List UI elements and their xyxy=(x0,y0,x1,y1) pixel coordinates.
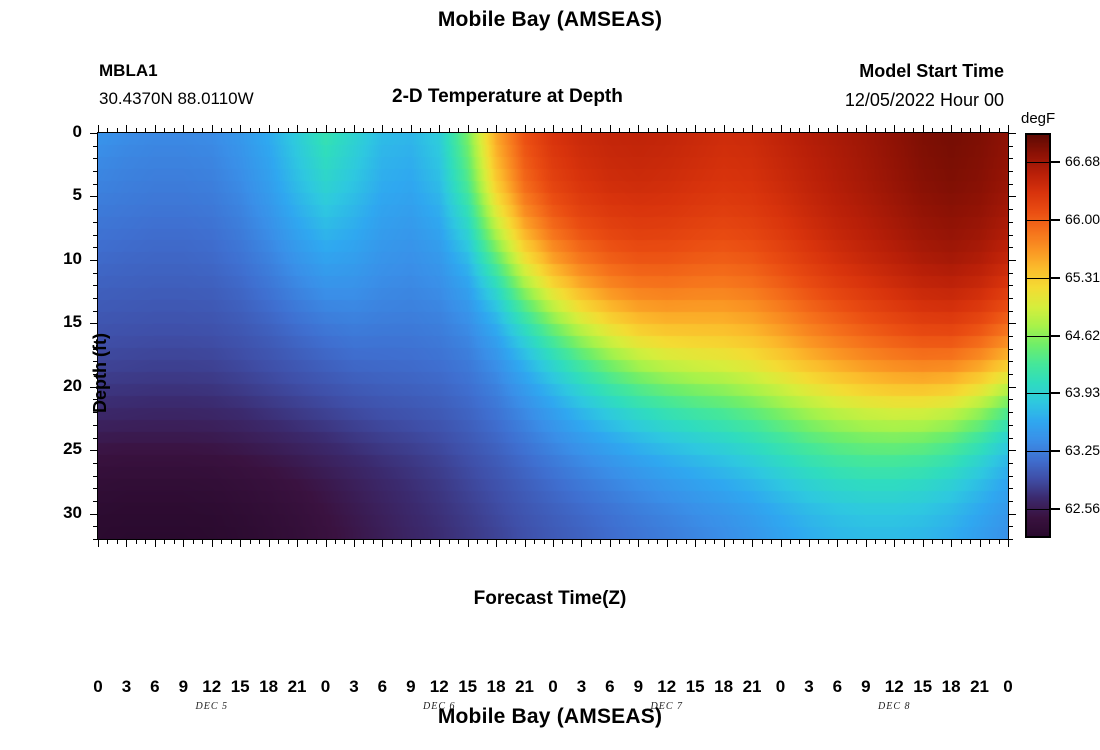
x-axis-top-tick xyxy=(752,125,753,133)
x-axis-top-tick xyxy=(439,125,440,133)
y-axis-right-minor-tick xyxy=(1008,463,1013,464)
x-axis-tick xyxy=(781,539,782,547)
x-axis-minor-tick xyxy=(307,539,308,544)
x-axis-minor-tick xyxy=(477,539,478,544)
x-axis-tick xyxy=(894,539,895,547)
y-axis-minor-tick xyxy=(93,425,98,426)
x-axis-top-minor-tick xyxy=(193,128,194,133)
x-axis-minor-tick xyxy=(714,539,715,544)
y-axis-minor-tick xyxy=(93,209,98,210)
x-axis-top-minor-tick xyxy=(259,128,260,133)
x-axis-top-tick xyxy=(724,125,725,133)
x-axis-tick xyxy=(610,539,611,547)
x-axis-tick xyxy=(638,539,639,547)
x-axis-minor-tick xyxy=(392,539,393,544)
x-axis-top-minor-tick xyxy=(107,128,108,133)
x-axis-top-minor-tick xyxy=(278,128,279,133)
y-axis-tick xyxy=(90,514,98,515)
x-axis-top-minor-tick xyxy=(221,128,222,133)
x-axis-top-tick xyxy=(126,125,127,133)
y-axis-right-minor-tick xyxy=(1008,285,1013,286)
y-axis-minor-tick xyxy=(93,273,98,274)
y-axis-tick-label: 30 xyxy=(42,503,82,523)
x-axis-top-minor-tick xyxy=(771,128,772,133)
y-axis-right-minor-tick xyxy=(1008,361,1013,362)
x-axis-top-minor-tick xyxy=(477,128,478,133)
colorbar-tick xyxy=(1051,277,1060,279)
x-axis-top-minor-tick xyxy=(790,128,791,133)
y-axis-minor-tick xyxy=(93,476,98,477)
x-axis-minor-tick xyxy=(743,539,744,544)
colorbar-inner-tick xyxy=(1025,393,1051,394)
x-axis-top-minor-tick xyxy=(363,128,364,133)
x-axis-top-minor-tick xyxy=(562,128,563,133)
x-axis-top-minor-tick xyxy=(572,128,573,133)
x-axis-top-minor-tick xyxy=(942,128,943,133)
station-coordinates: 30.4370N 88.0110W xyxy=(99,85,254,113)
x-axis-tick xyxy=(581,539,582,547)
x-axis-top-tick xyxy=(866,125,867,133)
x-axis-minor-tick xyxy=(999,539,1000,544)
x-axis-top-minor-tick xyxy=(288,128,289,133)
model-start-time-label: Model Start Time xyxy=(845,57,1004,86)
x-axis-top-tick xyxy=(1008,125,1009,133)
y-axis-right-minor-tick xyxy=(1008,158,1013,159)
y-axis-right-minor-tick xyxy=(1008,374,1013,375)
colorbar-inner-tick xyxy=(1025,278,1051,279)
y-axis-right-tick xyxy=(1008,196,1016,197)
y-axis-tick xyxy=(90,196,98,197)
x-axis-tick xyxy=(183,539,184,547)
x-axis-tick xyxy=(382,539,383,547)
x-axis-top-tick xyxy=(496,125,497,133)
x-axis-top-tick xyxy=(155,125,156,133)
y-axis-tick xyxy=(90,260,98,261)
x-axis-tick xyxy=(695,539,696,547)
x-axis-top-tick xyxy=(553,125,554,133)
x-axis-top-minor-tick xyxy=(657,128,658,133)
y-axis-tick-label: 5 xyxy=(42,185,82,205)
colorbar-tick xyxy=(1051,161,1060,163)
heatmap-plot-area: Depth (ft) 03691215182103691215182103691… xyxy=(97,132,1009,540)
x-axis-top-minor-tick xyxy=(885,128,886,133)
x-axis-minor-tick xyxy=(544,539,545,544)
x-axis-minor-tick xyxy=(193,539,194,544)
x-axis-top-minor-tick xyxy=(430,128,431,133)
x-axis-tick xyxy=(724,539,725,547)
x-axis-top-minor-tick xyxy=(856,128,857,133)
x-axis-top-minor-tick xyxy=(344,128,345,133)
x-axis-tick xyxy=(155,539,156,547)
y-axis-right-tick xyxy=(1008,323,1016,324)
x-axis-minor-tick xyxy=(676,539,677,544)
y-axis-right-minor-tick xyxy=(1008,488,1013,489)
y-axis-minor-tick xyxy=(93,311,98,312)
x-axis-top-tick xyxy=(354,125,355,133)
x-axis-minor-tick xyxy=(506,539,507,544)
x-axis-tick xyxy=(269,539,270,547)
x-axis-minor-tick xyxy=(164,539,165,544)
x-axis-top-minor-tick xyxy=(989,128,990,133)
y-axis-right-minor-tick xyxy=(1008,171,1013,172)
colorbar-inner-tick xyxy=(1025,451,1051,452)
y-axis-minor-tick xyxy=(93,298,98,299)
y-axis-minor-tick xyxy=(93,349,98,350)
x-axis-top-minor-tick xyxy=(961,128,962,133)
y-axis-right-minor-tick xyxy=(1008,476,1013,477)
y-axis-minor-tick xyxy=(93,235,98,236)
x-axis-top-minor-tick xyxy=(174,128,175,133)
x-axis-minor-tick xyxy=(534,539,535,544)
y-axis-tick-label: 10 xyxy=(42,249,82,269)
x-axis-tick xyxy=(866,539,867,547)
y-axis-minor-tick xyxy=(93,374,98,375)
x-axis-minor-tick xyxy=(913,539,914,544)
y-axis-right-minor-tick xyxy=(1008,526,1013,527)
x-axis-top-tick xyxy=(980,125,981,133)
y-axis-minor-tick xyxy=(93,222,98,223)
y-axis-right-tick xyxy=(1008,514,1016,515)
x-axis-top-minor-tick xyxy=(117,128,118,133)
x-axis-minor-tick xyxy=(401,539,402,544)
y-axis-tick xyxy=(90,133,98,134)
x-axis-tick xyxy=(98,539,99,547)
y-axis-right-minor-tick xyxy=(1008,235,1013,236)
x-axis-minor-tick xyxy=(250,539,251,544)
x-axis-minor-tick xyxy=(657,539,658,544)
x-axis-top-minor-tick xyxy=(799,128,800,133)
x-axis-top-minor-tick xyxy=(847,128,848,133)
x-axis-top-tick xyxy=(667,125,668,133)
x-axis-tick xyxy=(667,539,668,547)
y-axis-right-minor-tick xyxy=(1008,247,1013,248)
x-axis-top-minor-tick xyxy=(506,128,507,133)
y-axis-minor-tick xyxy=(93,488,98,489)
colorbar-tick-label: 65.312 xyxy=(1065,269,1100,285)
x-axis-minor-tick xyxy=(363,539,364,544)
y-axis-minor-tick xyxy=(93,438,98,439)
x-axis-minor-tick xyxy=(316,539,317,544)
x-axis-top-minor-tick xyxy=(913,128,914,133)
x-axis-minor-tick xyxy=(733,539,734,544)
y-axis-right-minor-tick xyxy=(1008,412,1013,413)
x-axis-top-minor-tick xyxy=(145,128,146,133)
y-axis-minor-tick xyxy=(93,247,98,248)
x-axis-top-minor-tick xyxy=(136,128,137,133)
x-axis-minor-tick xyxy=(856,539,857,544)
x-axis-top-minor-tick xyxy=(401,128,402,133)
x-axis-top-minor-tick xyxy=(629,128,630,133)
x-axis-top-minor-tick xyxy=(544,128,545,133)
y-axis-minor-tick xyxy=(93,526,98,527)
x-axis-tick xyxy=(923,539,924,547)
x-axis-top-tick xyxy=(98,125,99,133)
x-axis-top-tick xyxy=(894,125,895,133)
x-axis-top-minor-tick xyxy=(591,128,592,133)
y-axis-right-minor-tick xyxy=(1008,539,1013,540)
x-axis-top-minor-tick xyxy=(999,128,1000,133)
x-axis-tick xyxy=(326,539,327,547)
y-axis-right-minor-tick xyxy=(1008,425,1013,426)
colorbar-tick-label: 66.688 xyxy=(1065,153,1100,169)
x-axis-top-tick xyxy=(610,125,611,133)
y-axis-minor-tick xyxy=(93,399,98,400)
x-axis-top-tick xyxy=(809,125,810,133)
x-axis-minor-tick xyxy=(259,539,260,544)
y-axis-right-minor-tick xyxy=(1008,438,1013,439)
page-title-top: Mobile Bay (AMSEAS) xyxy=(0,8,1100,32)
colorbar-tick xyxy=(1051,450,1060,452)
y-axis-right-minor-tick xyxy=(1008,146,1013,147)
x-axis-tick xyxy=(951,539,952,547)
colorbar-tick xyxy=(1051,392,1060,394)
colorbar-tick xyxy=(1051,335,1060,337)
x-axis-top-tick xyxy=(269,125,270,133)
y-axis-right-minor-tick xyxy=(1008,298,1013,299)
colorbar-unit-label: degF xyxy=(1021,110,1055,127)
x-axis-tick xyxy=(837,539,838,547)
x-axis-top-minor-tick xyxy=(762,128,763,133)
x-axis-top-minor-tick xyxy=(705,128,706,133)
x-axis-minor-tick xyxy=(705,539,706,544)
y-axis-right-tick xyxy=(1008,133,1016,134)
x-axis-minor-tick xyxy=(288,539,289,544)
y-axis-minor-tick xyxy=(93,463,98,464)
x-axis-minor-tick xyxy=(487,539,488,544)
x-axis-minor-tick xyxy=(335,539,336,544)
y-axis-minor-tick xyxy=(93,285,98,286)
x-axis-minor-tick xyxy=(344,539,345,544)
y-axis-minor-tick xyxy=(93,171,98,172)
y-axis-minor-tick xyxy=(93,412,98,413)
x-axis-top-minor-tick xyxy=(828,128,829,133)
x-axis-top-minor-tick xyxy=(458,128,459,133)
x-axis-top-minor-tick xyxy=(392,128,393,133)
colorbar-inner-tick xyxy=(1025,162,1051,163)
x-axis-tick xyxy=(411,539,412,547)
x-axis-top-minor-tick xyxy=(714,128,715,133)
y-axis-right-minor-tick xyxy=(1008,336,1013,337)
x-axis-minor-tick xyxy=(449,539,450,544)
colorbar-tick-label: 63.938 xyxy=(1065,384,1100,400)
x-axis-minor-tick xyxy=(790,539,791,544)
x-axis-top-minor-tick xyxy=(534,128,535,133)
y-axis-right-tick xyxy=(1008,450,1016,451)
x-axis-tick xyxy=(980,539,981,547)
x-axis-minor-tick xyxy=(932,539,933,544)
x-axis-minor-tick xyxy=(828,539,829,544)
y-axis-right-minor-tick xyxy=(1008,399,1013,400)
x-axis-top-minor-tick xyxy=(686,128,687,133)
y-axis-minor-tick xyxy=(93,184,98,185)
y-axis-right-minor-tick xyxy=(1008,222,1013,223)
y-axis-minor-tick xyxy=(93,361,98,362)
colorbar-tick-label: 62.562 xyxy=(1065,500,1100,516)
x-axis-minor-tick xyxy=(989,539,990,544)
x-axis-tick xyxy=(468,539,469,547)
x-axis-top-minor-tick xyxy=(970,128,971,133)
temperature-heatmap-canvas xyxy=(98,133,1008,539)
x-axis-minor-tick xyxy=(629,539,630,544)
x-axis-top-minor-tick xyxy=(250,128,251,133)
colorbar-tick-label: 66.000 xyxy=(1065,211,1100,227)
station-id: MBLA1 xyxy=(99,57,254,85)
y-axis-tick-label: 25 xyxy=(42,439,82,459)
y-axis-right-minor-tick xyxy=(1008,311,1013,312)
x-axis-tick xyxy=(553,539,554,547)
x-axis-minor-tick xyxy=(572,539,573,544)
x-axis-minor-tick xyxy=(847,539,848,544)
x-axis-minor-tick xyxy=(231,539,232,544)
x-axis-tick xyxy=(354,539,355,547)
colorbar-inner-tick xyxy=(1025,220,1051,221)
x-axis-top-minor-tick xyxy=(316,128,317,133)
x-axis-top-minor-tick xyxy=(648,128,649,133)
x-axis-top-minor-tick xyxy=(373,128,374,133)
x-axis-top-minor-tick xyxy=(231,128,232,133)
x-axis-minor-tick xyxy=(942,539,943,544)
y-axis-tick-label: 20 xyxy=(42,376,82,396)
x-axis-top-tick xyxy=(382,125,383,133)
x-axis-tick xyxy=(126,539,127,547)
x-axis-minor-tick xyxy=(648,539,649,544)
x-axis-minor-tick xyxy=(885,539,886,544)
y-axis-minor-tick xyxy=(93,158,98,159)
x-axis-top-tick xyxy=(468,125,469,133)
x-axis-minor-tick xyxy=(875,539,876,544)
x-axis-minor-tick xyxy=(686,539,687,544)
x-axis-tick xyxy=(240,539,241,547)
x-axis-minor-tick xyxy=(762,539,763,544)
x-axis-top-minor-tick xyxy=(904,128,905,133)
x-axis-tick xyxy=(809,539,810,547)
x-axis-minor-tick xyxy=(818,539,819,544)
x-axis-top-tick xyxy=(326,125,327,133)
x-axis-top-minor-tick xyxy=(619,128,620,133)
y-axis-right-minor-tick xyxy=(1008,209,1013,210)
colorbar-tick-label: 63.250 xyxy=(1065,442,1100,458)
model-start-info: Model Start Time 12/05/2022 Hour 00 xyxy=(845,57,1004,115)
x-axis-top-tick xyxy=(581,125,582,133)
x-axis-top-minor-tick xyxy=(600,128,601,133)
x-axis-minor-tick xyxy=(591,539,592,544)
x-axis-minor-tick xyxy=(174,539,175,544)
x-axis-tick xyxy=(297,539,298,547)
x-axis-top-tick xyxy=(638,125,639,133)
x-axis-tick xyxy=(439,539,440,547)
x-axis-top-minor-tick xyxy=(307,128,308,133)
y-axis-tick xyxy=(90,387,98,388)
x-axis-minor-tick xyxy=(136,539,137,544)
x-axis-minor-tick xyxy=(221,539,222,544)
model-start-time-value: 12/05/2022 Hour 00 xyxy=(845,86,1004,115)
x-axis-top-tick xyxy=(695,125,696,133)
x-axis-minor-tick xyxy=(904,539,905,544)
colorbar-tick xyxy=(1051,219,1060,221)
y-axis-right-minor-tick xyxy=(1008,349,1013,350)
x-axis-top-tick xyxy=(781,125,782,133)
x-axis-top-minor-tick xyxy=(818,128,819,133)
x-axis-top-minor-tick xyxy=(487,128,488,133)
x-axis-minor-tick xyxy=(619,539,620,544)
colorbar-tick xyxy=(1051,508,1060,510)
y-axis-tick xyxy=(90,323,98,324)
x-axis-tick-label: 0 xyxy=(988,677,1028,697)
x-axis-minor-tick xyxy=(961,539,962,544)
x-axis-top-tick xyxy=(411,125,412,133)
y-axis-minor-tick xyxy=(93,501,98,502)
colorbar-inner-tick xyxy=(1025,509,1051,510)
x-axis-top-minor-tick xyxy=(875,128,876,133)
y-axis-right-tick xyxy=(1008,260,1016,261)
x-axis-minor-tick xyxy=(202,539,203,544)
x-axis-top-tick xyxy=(212,125,213,133)
y-axis-right-minor-tick xyxy=(1008,501,1013,502)
x-axis-minor-tick xyxy=(430,539,431,544)
x-axis-top-tick xyxy=(240,125,241,133)
x-axis-minor-tick xyxy=(799,539,800,544)
colorbar: 66.68866.00065.31264.62563.93863.25062.5… xyxy=(1025,133,1051,538)
x-axis-minor-tick xyxy=(515,539,516,544)
x-axis-minor-tick xyxy=(117,539,118,544)
x-axis-top-minor-tick xyxy=(932,128,933,133)
x-axis-minor-tick xyxy=(107,539,108,544)
x-axis-tick xyxy=(212,539,213,547)
x-axis-title: Forecast Time(Z) xyxy=(0,588,1100,610)
x-axis-top-tick xyxy=(525,125,526,133)
x-axis-top-minor-tick xyxy=(164,128,165,133)
x-axis-top-minor-tick xyxy=(515,128,516,133)
page-title-bottom: Mobile Bay (AMSEAS) xyxy=(0,705,1100,729)
x-axis-minor-tick xyxy=(600,539,601,544)
x-axis-tick xyxy=(496,539,497,547)
colorbar-tick-label: 64.625 xyxy=(1065,327,1100,343)
x-axis-minor-tick xyxy=(562,539,563,544)
colorbar-inner-tick xyxy=(1025,336,1051,337)
x-axis-minor-tick xyxy=(771,539,772,544)
y-axis-minor-tick xyxy=(93,539,98,540)
x-axis-top-minor-tick xyxy=(676,128,677,133)
x-axis-tick xyxy=(752,539,753,547)
y-axis-right-minor-tick xyxy=(1008,273,1013,274)
x-axis-top-minor-tick xyxy=(335,128,336,133)
x-axis-top-tick xyxy=(837,125,838,133)
x-axis-top-tick xyxy=(297,125,298,133)
y-axis-tick xyxy=(90,450,98,451)
y-axis-minor-tick xyxy=(93,336,98,337)
x-axis-minor-tick xyxy=(278,539,279,544)
y-axis-tick-label: 0 xyxy=(42,122,82,142)
y-axis-tick-label: 15 xyxy=(42,312,82,332)
y-axis-right-minor-tick xyxy=(1008,184,1013,185)
x-axis-tick xyxy=(525,539,526,547)
x-axis-top-tick xyxy=(183,125,184,133)
station-info: MBLA1 30.4370N 88.0110W xyxy=(99,57,254,112)
x-axis-minor-tick xyxy=(420,539,421,544)
y-axis-title: Depth (ft) xyxy=(90,333,111,413)
x-axis-minor-tick xyxy=(970,539,971,544)
x-axis-top-minor-tick xyxy=(449,128,450,133)
x-axis-top-minor-tick xyxy=(420,128,421,133)
x-axis-top-minor-tick xyxy=(733,128,734,133)
x-axis-minor-tick xyxy=(145,539,146,544)
x-axis-minor-tick xyxy=(373,539,374,544)
x-axis-top-minor-tick xyxy=(743,128,744,133)
x-axis-top-tick xyxy=(923,125,924,133)
y-axis-right-tick xyxy=(1008,387,1016,388)
x-axis-minor-tick xyxy=(458,539,459,544)
x-axis-tick xyxy=(1008,539,1009,547)
